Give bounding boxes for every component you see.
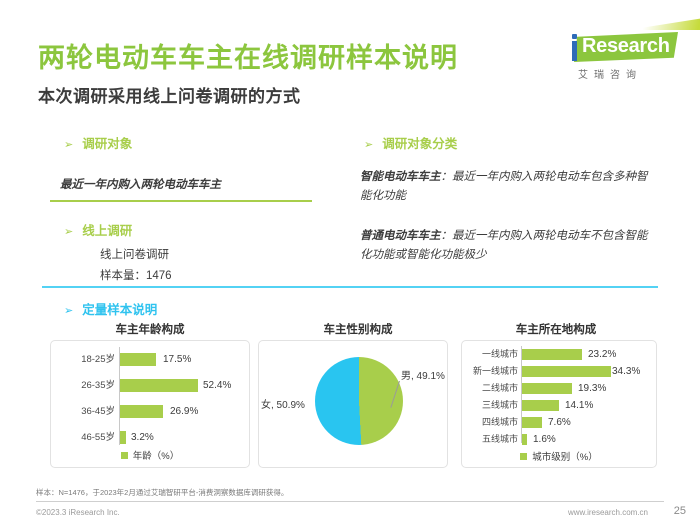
footer-page-number: 25 <box>674 505 686 517</box>
bar-row: 新一线城市 34.3% <box>462 365 656 378</box>
city-category-label: 二线城市 <box>462 382 518 395</box>
arrow-bullet-icon: ➢ <box>64 225 73 238</box>
classification-item-smart-label: 智能电动车车主 <box>360 171 441 183</box>
city-category-label: 三线城市 <box>462 399 518 412</box>
section-heading-quantitative-sample: ➢定量样本说明 <box>64 299 157 318</box>
slide-canvas: 两轮电动车车主在线调研样本说明 本次调研采用线上问卷调研的方式 Research… <box>0 0 700 525</box>
bar-row: 五线城市 1.6% <box>462 433 656 446</box>
age-bar <box>120 379 198 392</box>
chart-legend-age: 年龄（%） <box>51 448 249 462</box>
section-heading-survey-object-label: 调研对象 <box>82 137 132 151</box>
page-title: 两轮电动车车主在线调研样本说明 <box>38 36 458 75</box>
section-heading-survey-object: ➢调研对象 <box>64 133 132 152</box>
age-category-label: 36-45岁 <box>53 405 115 418</box>
classification-item-regular-label: 普通电动车车主 <box>360 230 441 242</box>
chart-legend-city: 城市级别（%） <box>462 449 656 463</box>
city-bar <box>522 383 572 394</box>
divider-footer <box>36 501 664 502</box>
footer-website-url: www.iresearch.com.cn <box>568 508 648 517</box>
divider-cyan-full <box>42 286 658 288</box>
city-value-label: 19.3% <box>578 383 606 394</box>
age-category-label: 18-25岁 <box>53 353 115 366</box>
footer-copyright: ©2023.3 iResearch Inc. <box>36 508 120 517</box>
bar-chart-city: 一线城市 23.2% 新一线城市 34.3% 二线城市 19.3% 三线城市 1… <box>462 341 656 467</box>
bar-row: 18-25岁 17.5% <box>51 353 249 366</box>
city-value-label: 14.1% <box>565 400 593 411</box>
city-category-label: 五线城市 <box>462 433 518 446</box>
city-value-label: 7.6% <box>548 417 571 428</box>
page-subtitle: 本次调研采用线上问卷调研的方式 <box>38 82 301 107</box>
legend-swatch-icon <box>121 452 128 459</box>
chart-card-gender: 女, 50.9% 男, 49.1% <box>258 340 448 468</box>
city-bar <box>522 434 527 445</box>
bar-row: 二线城市 19.3% <box>462 382 656 395</box>
online-survey-line-2: 样本量：1476 <box>100 267 172 283</box>
city-category-label: 一线城市 <box>462 348 518 361</box>
arrow-bullet-icon: ➢ <box>364 138 373 151</box>
bar-row: 一线城市 23.2% <box>462 348 656 361</box>
age-bar <box>120 353 156 366</box>
chart-title-gender: 车主性别构成 <box>258 321 458 337</box>
legend-swatch-icon <box>520 453 527 460</box>
section-heading-object-classification: ➢调研对象分类 <box>364 133 457 152</box>
age-value-label: 3.2% <box>131 431 154 444</box>
city-category-label: 新一线城市 <box>462 365 518 378</box>
age-value-label: 52.4% <box>203 379 231 392</box>
survey-object-body: 最近一年内购入两轮电动车车主 <box>60 176 221 192</box>
logo-i-stem-icon <box>572 41 577 61</box>
classification-item-regular: 普通电动车车主：最近一年内购入两轮电动车不包含智能化功能或智能化功能极少 <box>360 227 648 265</box>
divider-green-left <box>50 200 312 202</box>
city-bar <box>522 417 542 428</box>
age-category-label: 26-35岁 <box>53 379 115 392</box>
chart-title-age: 车主年龄构成 <box>50 321 250 337</box>
section-heading-online-survey: ➢线上调研 <box>64 220 132 239</box>
city-bar <box>522 366 611 377</box>
age-bar <box>120 431 126 444</box>
arrow-bullet-icon: ➢ <box>64 138 73 151</box>
pie-chart-gender: 女, 50.9% 男, 49.1% <box>259 341 447 467</box>
age-bar <box>120 405 163 418</box>
pie-label-male: 男, 49.1% <box>401 367 445 382</box>
logo-chinese-name: 艾瑞咨询 <box>578 66 642 81</box>
age-value-label: 26.9% <box>170 405 198 418</box>
pie-label-female: 女, 50.9% <box>261 396 305 411</box>
city-value-label: 34.3% <box>612 366 640 377</box>
bar-row: 四线城市 7.6% <box>462 416 656 429</box>
bar-row: 46-55岁 3.2% <box>51 431 249 444</box>
pie-slices <box>315 357 403 445</box>
iresearch-logo: Research 艾瑞咨询 <box>560 32 678 84</box>
bar-row: 三线城市 14.1% <box>462 399 656 412</box>
online-survey-line-1: 线上问卷调研 <box>100 246 169 262</box>
city-value-label: 1.6% <box>533 434 556 445</box>
corner-accent-decoration <box>580 0 700 30</box>
classification-item-smart: 智能电动车车主：最近一年内购入两轮电动车包含多种智能化功能 <box>360 168 648 206</box>
legend-label-city: 城市级别（%） <box>532 449 597 463</box>
logo-wordmark: Research <box>582 35 670 58</box>
legend-label-age: 年龄（%） <box>133 448 179 462</box>
city-bar <box>522 349 582 360</box>
age-category-label: 46-55岁 <box>53 431 115 444</box>
bar-row: 26-35岁 52.4% <box>51 379 249 392</box>
logo-i-dot-icon <box>572 34 577 39</box>
chart-card-city: 一线城市 23.2% 新一线城市 34.3% 二线城市 19.3% 三线城市 1… <box>461 340 657 468</box>
chart-card-age: 18-25岁 17.5% 26-35岁 52.4% 36-45岁 26.9% 4… <box>50 340 250 468</box>
age-value-label: 17.5% <box>163 353 191 366</box>
city-value-label: 23.2% <box>588 349 616 360</box>
footnote-sample-source: 样本：N=1476，于2023年2月通过艾瑞智研平台-消费洞察数据库调研获得。 <box>36 487 288 498</box>
city-bar <box>522 400 559 411</box>
arrow-bullet-icon: ➢ <box>64 304 73 317</box>
logo-mark: Research <box>560 32 678 64</box>
section-heading-object-classification-label: 调研对象分类 <box>382 137 457 151</box>
bar-row: 36-45岁 26.9% <box>51 405 249 418</box>
chart-title-city: 车主所在地构成 <box>456 321 656 337</box>
section-heading-online-survey-label: 线上调研 <box>82 224 132 238</box>
section-heading-quantitative-sample-label: 定量样本说明 <box>82 303 157 317</box>
bar-chart-age: 18-25岁 17.5% 26-35岁 52.4% 36-45岁 26.9% 4… <box>51 341 249 467</box>
city-category-label: 四线城市 <box>462 416 518 429</box>
